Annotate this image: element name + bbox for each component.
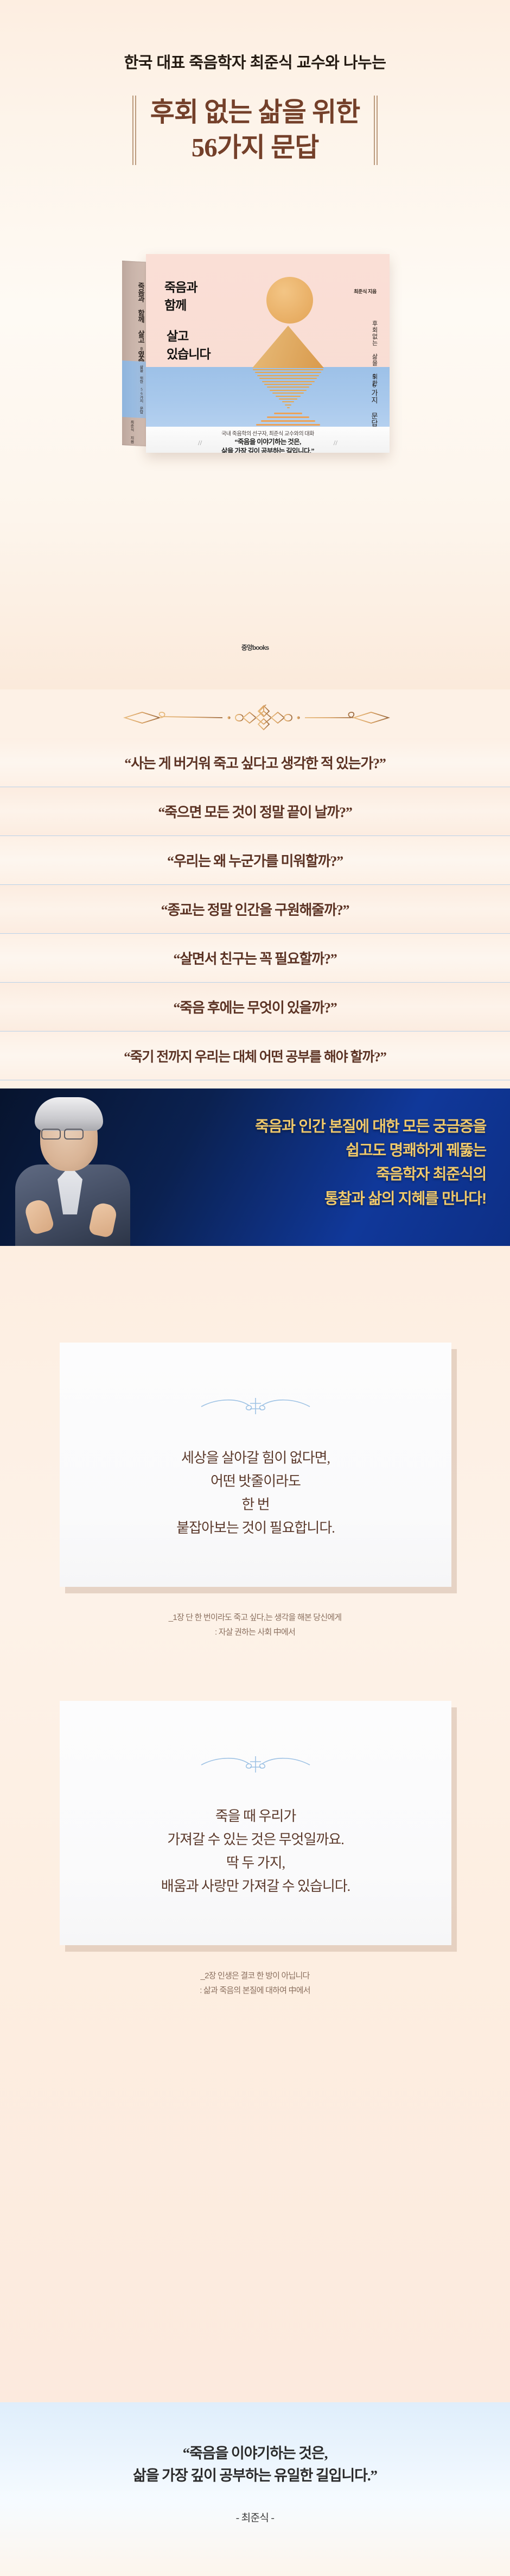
quote-card-caption: _2장 인생은 결코 한 방이 아닙니다 : 삶과 죽음의 본질에 대하여 中에… [0, 1969, 510, 1998]
cover-author-credit: 최준식 지음 [354, 288, 377, 295]
quote-line: 딱 두 가지, [60, 1851, 451, 1875]
quote-card-caption: _1장 단 한 번이라도 죽고 싶다,는 생각을 해본 당신에게 : 자살 권하… [0, 1611, 510, 1640]
question-row: “살면서 친구는 꼭 필요할까?” [0, 934, 510, 983]
hero-kicker: 한국 대표 죽음학자 최준식 교수와 나누는 [0, 50, 510, 73]
footer-quote: “죽음을 이야기하는 것은, 삶을 가장 깊이 공부하는 유일한 길입니다.” [0, 2402, 510, 2487]
footer-quote-line-2: 삶을 가장 깊이 공부하는 유일한 길입니다.” [0, 2465, 510, 2487]
author-copy-line-3: 죽음학자 최준식의 [182, 1162, 486, 1186]
cover-title-bottom: 살고 있습니다 [167, 328, 211, 363]
author-glasses-left-icon [41, 1129, 61, 1140]
cover-title-top: 죽음과 함께 [164, 279, 197, 314]
obi-quote-line-1: “죽음을 이야기하는 것은, [146, 438, 390, 447]
hero-section: 한국 대표 죽음학자 최준식 교수와 나누는 후회 없는 삶을 위한 56가지 … [0, 0, 510, 689]
footer-byline: - 최준식 - [0, 2510, 510, 2524]
author-banner: 죽음과 인간 본질에 대한 모든 궁금증을 쉽고도 명쾌하게 꿰뚫는 죽음학자 … [0, 1088, 510, 1246]
quote-line: 한 번 [60, 1493, 451, 1516]
footer-quote-section: “죽음을 이야기하는 것은, 삶을 가장 깊이 공부하는 유일한 길입니다.” … [0, 2402, 510, 2576]
question-text: “사는 게 버거워 죽고 싶다고 생각한 적 있는가?” [124, 752, 385, 773]
question-text: “죽으면 모든 것이 정말 끝이 날까?” [158, 801, 352, 821]
quote-card-body: 죽을 때 우리가 가져갈 수 있는 것은 무엇일까요. 딱 두 가지, 배움과 … [60, 1805, 451, 1898]
caption-chapter: _2장 인생은 결코 한 방이 아닙니다 [0, 1969, 510, 1984]
question-row: “종교는 정말 인간을 구원해줄까?” [0, 885, 510, 934]
cover-iceberg-icon [252, 326, 324, 368]
hero-title-block: 후회 없는 삶을 위한 56가지 문답 [0, 95, 510, 165]
title-rule-left [132, 96, 136, 165]
question-row: “죽기 전까지 우리는 대체 어떤 공부를 해야 할까?” [0, 1031, 510, 1080]
question-list: “사는 게 버거워 죽고 싶다고 생각한 적 있는가?” “죽으면 모든 것이 … [0, 738, 510, 1080]
quote-line: 가져갈 수 있는 것은 무엇일까요. [60, 1828, 451, 1851]
footer-quote-line-1: “죽음을 이야기하는 것은, [0, 2442, 510, 2465]
question-text: “우리는 왜 누군가를 미워할까?” [167, 850, 343, 870]
spine-subtitle: 후회없는 삶을 위한 56가지 문답 [125, 346, 144, 414]
cover-title-line-2: 함께 [164, 297, 197, 315]
promo-page: 한국 대표 죽음학자 최준식 교수와 나누는 후회 없는 삶을 위한 56가지 … [0, 0, 510, 2576]
author-copy-line-2: 쉽고도 명쾌하게 꿰뚫는 [182, 1138, 486, 1162]
quote-line: 붙잡아보는 것이 필요합니다. [60, 1516, 451, 1540]
book-mockup: 죽음과 함께 살고 있습니다 후회없는 삶을 위한 56가지 문답 최준식 지음 [122, 254, 390, 454]
quote-line: 어떤 밧줄이라도 [60, 1470, 451, 1493]
question-text: “살면서 친구는 꼭 필요할까?” [173, 948, 336, 968]
author-glasses-right-icon [64, 1129, 84, 1140]
quote-line: 세상을 살아갈 힘이 없다면, [60, 1446, 451, 1470]
title-line-2: 56가지 문답 [150, 130, 360, 166]
caption-source: : 삶과 죽음의 본질에 대하여 中에서 [0, 1984, 510, 1998]
author-copy-line-4: 통찰과 삶의 지혜를 만나다! [182, 1187, 486, 1211]
cover-sun-circle-icon [266, 277, 313, 324]
book-front-cover: 죽음과 함께 살고 있습니다 최준식 지음 후회없는 삶을 위한 56가지 문답… [146, 254, 390, 453]
ornament-flourish-icon [114, 705, 396, 731]
quote-line: 죽을 때 우리가 [60, 1805, 451, 1828]
ornament-divider [0, 700, 510, 735]
card-flourish-icon [196, 1397, 315, 1415]
card-flourish-icon [196, 1755, 315, 1774]
caption-chapter: _1장 단 한 번이라도 죽고 싶다,는 생각을 해본 당신에게 [0, 1611, 510, 1625]
book-spine: 죽음과 함께 살고 있습니다 후회없는 삶을 위한 56가지 문답 최준식 지음 [122, 261, 147, 446]
obi-quote-line-2: 삶을 가장 깊이 공부하는 길입니다.” [146, 447, 390, 453]
cover-title-line-3: 살고 [167, 328, 211, 346]
caption-source: : 자살 권하는 사회 中에서 [0, 1625, 510, 1640]
quote-card-body: 세상을 살아갈 힘이 없다면, 어떤 밧줄이라도 한 번 붙잡아보는 것이 필요… [60, 1446, 451, 1540]
quote-cards-section: 세상을 살아갈 힘이 없다면, 어떤 밧줄이라도 한 번 붙잡아보는 것이 필요… [0, 1246, 510, 2402]
title-rule-right [374, 96, 378, 165]
question-row: “죽으면 모든 것이 정말 끝이 날까?” [0, 787, 510, 836]
author-copy-line-1: 죽음과 인간 본질에 대한 모든 궁금증을 [182, 1115, 486, 1138]
obi-quote: “죽음을 이야기하는 것은, 삶을 가장 깊이 공부하는 길입니다.” [146, 438, 390, 453]
author-hair [35, 1097, 103, 1131]
publisher-logo: 중앙books [0, 643, 510, 652]
question-text: “죽음 후에는 무엇이 있을까?” [173, 997, 336, 1017]
author-banner-copy: 죽음과 인간 본질에 대한 모든 궁금증을 쉽고도 명쾌하게 꿰뚫는 죽음학자 … [182, 1115, 486, 1211]
question-text: “죽기 전까지 우리는 대체 어떤 공부를 해야 할까?” [124, 1046, 386, 1066]
quote-card: 세상을 살아갈 힘이 없다면, 어떤 밧줄이라도 한 번 붙잡아보는 것이 필요… [60, 1343, 451, 1587]
cover-iceberg-reflection [252, 369, 324, 410]
obi-lead-text: 국내 죽음학의 선구자, 최준식 교수와의 대화 [146, 429, 390, 437]
cover-side-count: 56가지 문답 [369, 372, 379, 427]
author-portrait [10, 1088, 145, 1246]
quote-line: 배움과 사랑만 가져갈 수 있습니다. [60, 1875, 451, 1898]
question-row: “죽음 후에는 무엇이 있을까?” [0, 983, 510, 1031]
question-row: “사는 게 버거워 죽고 싶다고 생각한 적 있는가?” [0, 738, 510, 787]
cover-title-line-1: 죽음과 [164, 279, 197, 297]
question-text: “종교는 정말 인간을 구원해줄까?” [161, 899, 349, 919]
question-row: “우리는 왜 누군가를 미워할까?” [0, 836, 510, 885]
cover-title-line-4: 있습니다 [167, 346, 211, 364]
quote-card: 죽을 때 우리가 가져갈 수 있는 것은 무엇일까요. 딱 두 가지, 배움과 … [60, 1701, 451, 1945]
spine-author: 최준식 지음 [130, 420, 135, 444]
title-line-1: 후회 없는 삶을 위한 [150, 95, 360, 130]
page-title: 후회 없는 삶을 위한 56가지 문답 [150, 95, 360, 165]
